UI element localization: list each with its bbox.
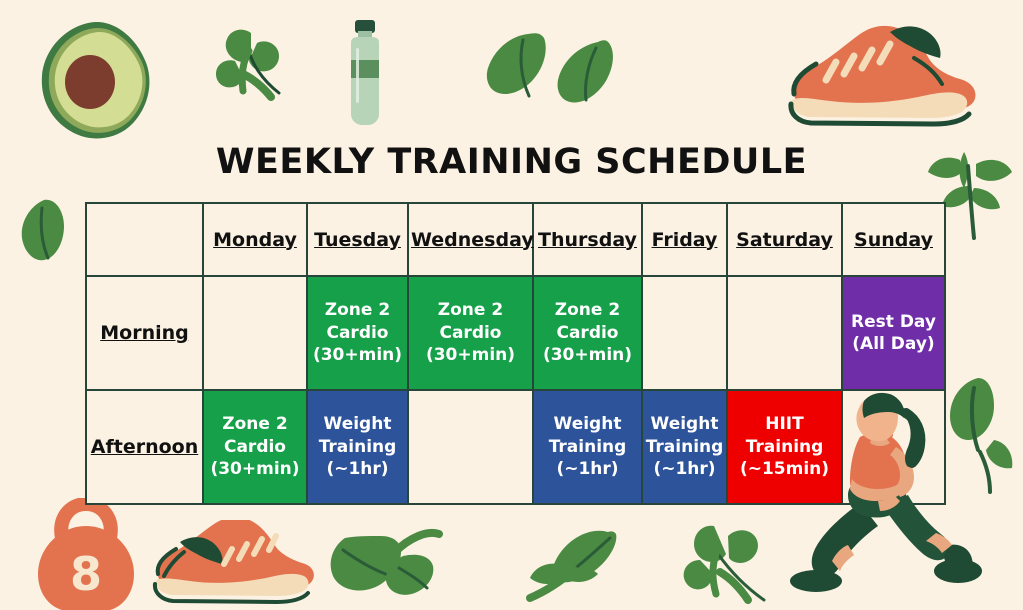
table-header-row: Monday Tuesday Wednesday Thursday Friday (86, 203, 945, 276)
cell-morning-tuesday[interactable]: Zone 2 Cardio (30+min) (307, 276, 408, 390)
cell-line-3: (~1hr) (645, 458, 724, 480)
cell-line-2: Training (536, 436, 639, 458)
row-label: Morning (100, 322, 189, 344)
day-label: Thursday (538, 229, 637, 251)
day-label: Monday (213, 229, 297, 251)
cell-line-2: Cardio (310, 322, 405, 344)
row-header-morning: Morning (86, 276, 203, 390)
row-label: Afternoon (91, 436, 198, 458)
day-label: Tuesday (314, 229, 401, 251)
leaf-icon (16, 196, 68, 266)
avocado-half-icon (32, 18, 160, 142)
day-label: Wednesday (411, 229, 534, 251)
cell-line-3: (~1hr) (536, 458, 639, 480)
schedule-table-container: Monday Tuesday Wednesday Thursday Friday (85, 202, 944, 504)
leaf-sprig-icon (940, 368, 1023, 498)
day-header-tuesday: Tuesday (307, 203, 408, 276)
arugula-leaf-icon (205, 25, 297, 105)
cell-line-1: HIIT (730, 413, 839, 435)
cell-line-1: Weight (310, 413, 405, 435)
running-shoe-icon (140, 520, 315, 605)
cell-line-3: (~15min) (730, 458, 839, 480)
day-header-monday: Monday (203, 203, 307, 276)
cell-afternoon-thursday[interactable]: Weight Training (~1hr) (533, 390, 642, 504)
cell-line-1: Zone 2 (411, 299, 530, 321)
table-corner-cell (86, 203, 203, 276)
cell-afternoon-saturday[interactable]: HIIT Training (~15min) (727, 390, 842, 504)
cell-morning-saturday[interactable] (727, 276, 842, 390)
day-label: Friday (652, 229, 718, 251)
cell-line-3: (30+min) (411, 344, 530, 366)
cell-line-2: Cardio (411, 322, 530, 344)
day-header-friday: Friday (642, 203, 727, 276)
day-header-thursday: Thursday (533, 203, 642, 276)
cell-afternoon-sunday[interactable] (842, 390, 945, 504)
cell-line-2: (All Day) (845, 333, 942, 355)
kettlebell-icon: 8 (28, 498, 144, 610)
cell-line-1: Rest Day (845, 311, 942, 333)
cell-line-2: Cardio (536, 322, 639, 344)
running-shoe-icon (764, 18, 979, 128)
table-row-morning: Morning Zone 2 Cardio (30+min) (86, 276, 945, 390)
day-header-wednesday: Wednesday (408, 203, 533, 276)
cell-line-2: Training (730, 436, 839, 458)
day-label: Sunday (854, 229, 933, 251)
cell-line-3: (~1hr) (310, 458, 405, 480)
cell-line-1: Weight (536, 413, 639, 435)
cell-morning-thursday[interactable]: Zone 2 Cardio (30+min) (533, 276, 642, 390)
cell-line-1: Zone 2 (206, 413, 304, 435)
cell-line-3: (30+min) (536, 344, 639, 366)
page-title: WEEKLY TRAINING SCHEDULE (0, 142, 1023, 182)
cell-line-1: Weight (645, 413, 724, 435)
cell-line-2: Training (310, 436, 405, 458)
day-label: Saturday (736, 229, 833, 251)
row-header-afternoon: Afternoon (86, 390, 203, 504)
cell-line-2: Training (645, 436, 724, 458)
cell-morning-monday[interactable] (203, 276, 307, 390)
table-row-afternoon: Afternoon Zone 2 Cardio (30+min) Weight … (86, 390, 945, 504)
cell-afternoon-friday[interactable]: Weight Training (~1hr) (642, 390, 727, 504)
cell-afternoon-monday[interactable]: Zone 2 Cardio (30+min) (203, 390, 307, 504)
spinach-leaf-icon (325, 518, 475, 606)
day-header-sunday: Sunday (842, 203, 945, 276)
spinach-leaf-icon (468, 28, 648, 116)
cell-morning-sunday[interactable]: Rest Day (All Day) (842, 276, 945, 390)
kettlebell-weight-label: 8 (70, 547, 102, 601)
cell-line-3: (30+min) (206, 458, 304, 480)
cell-line-2: Cardio (206, 436, 304, 458)
water-bottle-icon (338, 18, 392, 128)
cell-line-3: (30+min) (310, 344, 405, 366)
day-header-saturday: Saturday (727, 203, 842, 276)
arugula-leaf-icon (672, 520, 782, 608)
cell-morning-friday[interactable] (642, 276, 727, 390)
infographic-canvas: 8 (0, 0, 1023, 608)
weekly-training-schedule-table: Monday Tuesday Wednesday Thursday Friday (85, 202, 946, 505)
arugula-leaf-icon (512, 522, 652, 607)
cell-morning-wednesday[interactable]: Zone 2 Cardio (30+min) (408, 276, 533, 390)
cell-line-1: Zone 2 (310, 299, 405, 321)
cell-line-1: Zone 2 (536, 299, 639, 321)
cell-afternoon-wednesday[interactable] (408, 390, 533, 504)
cell-afternoon-tuesday[interactable]: Weight Training (~1hr) (307, 390, 408, 504)
